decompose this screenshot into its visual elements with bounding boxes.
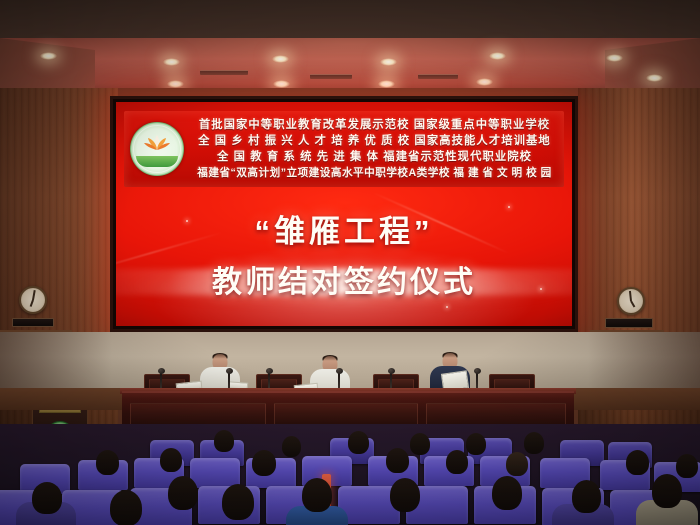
clock-hour-hand (630, 301, 635, 308)
wall-plaque-right (605, 318, 653, 328)
table-microphone (268, 372, 270, 389)
audience-person-head (390, 478, 420, 512)
lotus-icon (142, 133, 172, 155)
led-screen-surface: 首批国家中等职业教育改革发展示范校 国家级重点中等职业学校 全 国 乡 村 振 … (116, 102, 572, 326)
audience-person-head (572, 480, 601, 513)
audience-person-head (168, 476, 198, 510)
audience-person-head (524, 432, 544, 454)
clock-minute-hand (32, 290, 35, 300)
table-microphone (160, 372, 162, 389)
wall-clock-right (617, 287, 645, 315)
ceiling-downlight (646, 74, 663, 82)
ceiling-air-vent (418, 74, 458, 79)
ceiling-air-vent (200, 70, 248, 75)
audience-person-head (652, 474, 682, 508)
audience-person-head (676, 454, 698, 478)
event-subtitle: 教师结对签约仪式 (116, 257, 572, 301)
banner-line-3: 全 国 教 育 系 统 先 进 集 体 福建省示范性现代职业院校 (191, 150, 558, 165)
table-microphone (338, 372, 340, 389)
led-display-screen: 首批国家中等职业教育改革发展示范校 国家级重点中等职业学校 全 国 乡 村 振 … (110, 96, 578, 332)
ceiling-downlight (476, 78, 493, 86)
ceiling-downlight (489, 52, 506, 60)
banner-text-block: 首批国家中等职业教育改革发展示范校 国家级重点中等职业学校 全 国 乡 村 振 … (184, 118, 564, 181)
wall-plaque-left (12, 318, 54, 327)
banner-line-2: 全 国 乡 村 振 兴 人 才 培 养 优 质 校 国家高技能人才培训基地 (191, 134, 558, 149)
clock-minute-hand (629, 291, 632, 301)
audience-person-head (222, 484, 254, 520)
audience-person-head (626, 450, 649, 475)
audience-person-head (96, 450, 119, 475)
ceiling-downlight (40, 52, 57, 60)
emblem-hill (136, 156, 178, 167)
table-microphone (390, 372, 392, 389)
ceiling-downlight (272, 55, 289, 63)
audience-seat (190, 458, 240, 488)
ceiling-downlight (163, 58, 180, 66)
audience-person-head (282, 436, 301, 457)
school-emblem-lotus-logo (130, 122, 184, 176)
audience-person-head (492, 476, 522, 510)
banner-line-1: 首批国家中等职业教育改革发展示范校 国家级重点中等职业学校 (191, 118, 558, 133)
wall-clock-left (19, 286, 47, 314)
clock-hour-hand (30, 300, 34, 307)
audience-person-head (160, 448, 182, 472)
ceiling-air-vent (310, 74, 352, 79)
audience-person-head (348, 431, 369, 454)
audience-person-head (386, 448, 409, 473)
table-microphone (228, 372, 230, 389)
audience-person-head (302, 478, 332, 512)
auditorium-scene: 首批国家中等职业教育改革发展示范校 国家级重点中等职业学校 全 国 乡 村 振 … (0, 0, 700, 525)
ceiling-downlight (606, 54, 623, 62)
table-microphone (476, 372, 478, 389)
ceiling-downlight (378, 80, 395, 88)
audience-person-head (410, 433, 430, 455)
audience-person-head (466, 433, 486, 455)
event-title: “雏雁工程” (116, 206, 572, 251)
audience-person-head (214, 430, 234, 452)
audience-person-head (446, 450, 468, 474)
ceiling-downlight (273, 80, 290, 88)
audience-person-head (252, 450, 276, 476)
credentials-banner: 首批国家中等职业教育改革发展示范校 国家级重点中等职业学校 全 国 乡 村 振 … (124, 111, 564, 187)
audience-person-head (506, 452, 528, 476)
audience-person-head (32, 482, 62, 514)
banner-line-4: 福建省“双高计划”立项建设高水平中职学校A类学校 福 建 省 文 明 校 园 (191, 166, 558, 181)
ceiling-downlight (167, 80, 184, 88)
audience-seating (0, 424, 700, 525)
audience-person-head (110, 490, 142, 525)
ceiling-downlight (380, 58, 397, 66)
